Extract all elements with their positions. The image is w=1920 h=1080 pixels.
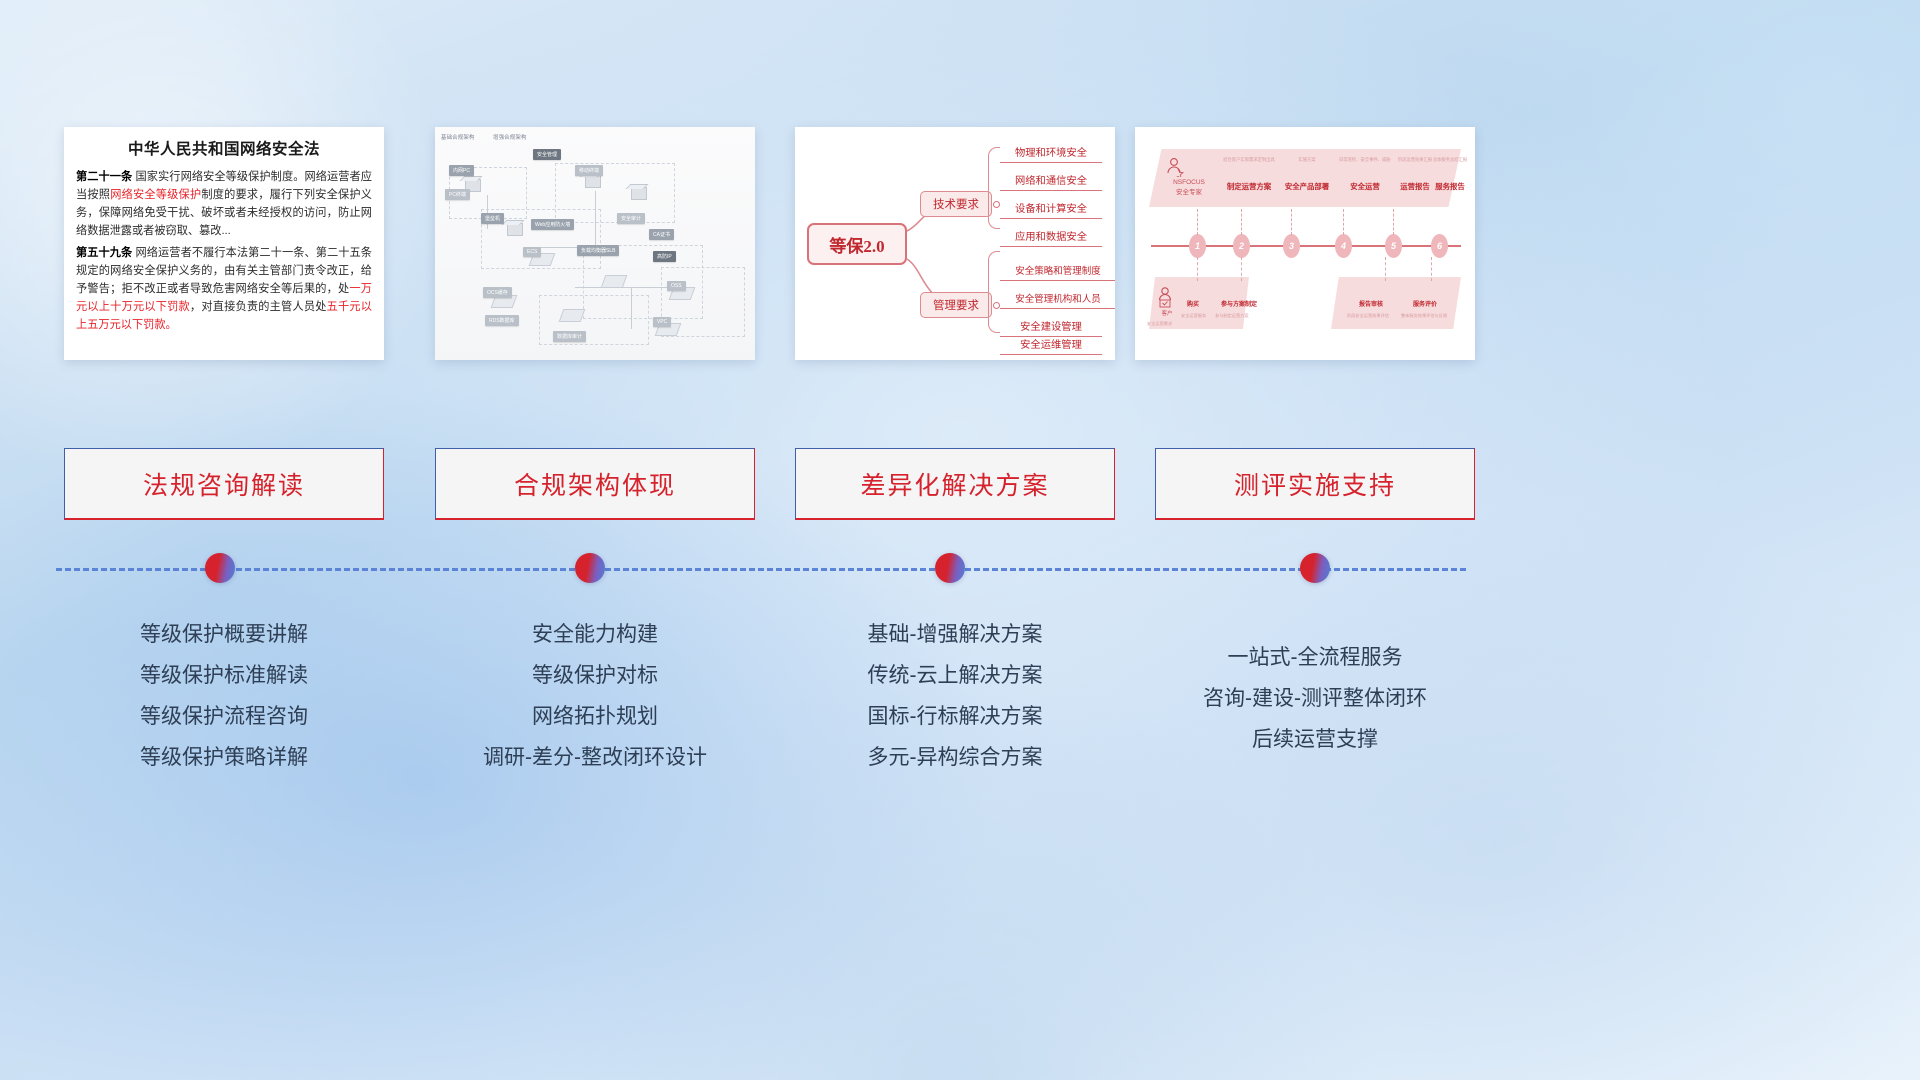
timeline-dash-4 (1343, 209, 1344, 235)
list-item: 安全能力构建 (435, 615, 755, 656)
step-3-title: 安全运营 (1339, 181, 1391, 192)
law-title: 中华人民共和国网络安全法 (76, 137, 372, 159)
list-item: 等级保护策略详解 (64, 738, 384, 779)
arch-chip-slb: 负载均衡器SLB (577, 245, 619, 256)
article-21-highlight: 网络安全等级保护 (110, 189, 201, 201)
nsfocus-timeline: NSFOCUS 安全专家 结合客户实际需求定制出具 制定运营方案 实施方案 安全… (1135, 127, 1475, 360)
timeline-dash-b3 (1385, 257, 1386, 281)
section-header-4-label: 测评实施支持 (1234, 466, 1396, 502)
timeline-marker-2[interactable] (575, 553, 605, 583)
timeline-dash-b2 (1241, 257, 1242, 281)
arch-tab-basic: 基础合规架构 (441, 133, 475, 141)
article-59-text-b: ，对直接负责的主管人员处 (190, 301, 327, 313)
timeline-marker-1[interactable] (205, 553, 235, 583)
arch-link-2 (595, 191, 596, 251)
article-21-number: 第二十一条 (76, 171, 132, 183)
customer-action-1-title: 购买 (1187, 299, 1199, 308)
arch-icon-bastion (507, 223, 523, 236)
law-article-59: 第五十九条 网络运营者不履行本法第二十一条、第二十五条规定的网络安全保护义务的，… (76, 244, 372, 335)
list-item: 等级保护标准解读 (64, 656, 384, 697)
arch-zone-terminal (555, 163, 675, 223)
mindmap: 等保2.0 技术要求 管理要求 物理和环境安全 网络和通信安全 设备和计算安全 … (795, 127, 1115, 360)
customer-role-subtitle: 安全运营需求 (1147, 321, 1172, 327)
customer-action-3-title: 报告审核 (1359, 299, 1383, 308)
mindmap-leaf-org-personnel: 安全管理机构和人员 (1000, 287, 1115, 309)
section-header-2-label: 合规架构体现 (514, 466, 676, 502)
timeline-dash-1 (1197, 209, 1198, 235)
customer-person-icon (1157, 287, 1175, 309)
section-4-items: 一站式-全流程服务 咨询-建设-测评整体闭环 后续运营支撑 (1155, 638, 1475, 761)
arch-chip-db-audit: 数据库审计 (553, 331, 586, 342)
arch-chip-ocs-cache: OCS缓存 (483, 287, 512, 298)
list-item: 等级保护流程咨询 (64, 697, 384, 738)
section-header-1-label: 法规咨询解读 (143, 466, 305, 502)
mindmap-bracket-management (988, 251, 1000, 333)
timeline-node-5[interactable]: 5 (1385, 234, 1402, 258)
customer-action-3-subtitle: 阶段安全运营效果评估 (1347, 313, 1389, 319)
step-2-subtitle: 实施方案 (1281, 157, 1333, 163)
law-document: 中华人民共和国网络安全法 第二十一条 国家实行网络安全等级保护制度。网络运营者应… (64, 127, 384, 345)
arch-icon-rds (559, 309, 586, 322)
arch-chip-security-mgmt: 安全管理 (533, 149, 561, 160)
timeline-node-4[interactable]: 4 (1335, 234, 1352, 258)
list-item: 调研-差分-整改闭环设计 (435, 738, 755, 779)
arch-chip-anti-ddos-ip: 高防IP (653, 251, 676, 262)
list-item: 等级保护对标 (435, 656, 755, 697)
step-5-title: 服务报告 (1427, 181, 1473, 192)
timeline-dash-5 (1393, 209, 1394, 235)
arch-chip-bastion: 堡垒机 (481, 213, 504, 224)
section-header-3-label: 差异化解决方案 (860, 466, 1049, 502)
section-header-differentiated-solution[interactable]: 差异化解决方案 (795, 448, 1115, 520)
arch-chip-internal-pc: 内网PC (449, 165, 474, 176)
list-item: 一站式-全流程服务 (1155, 638, 1475, 679)
customer-action-4-subtitle: 整体服务效果评估与反馈 (1401, 313, 1447, 319)
arch-chip-pc-terminal: PC终端 (445, 189, 470, 200)
arch-chip-vpc: VPC (653, 317, 671, 327)
list-item: 后续运营支撑 (1155, 720, 1475, 761)
step-2-title: 安全产品部署 (1281, 181, 1333, 192)
step-5-subtitle: 总体服务总结汇报 (1427, 157, 1473, 163)
arch-chip-ca-cert: CA证书 (649, 229, 674, 240)
step-1-subtitle: 结合客户实际需求定制出具 (1223, 157, 1275, 163)
mindmap-branch-technical: 技术要求 (920, 191, 992, 217)
law-article-21: 第二十一条 国家实行网络安全等级保护制度。网络运营者应当按照网络安全等级保护制度… (76, 168, 372, 241)
customer-action-2-subtitle: 参与制定运营方案 (1215, 313, 1249, 319)
arch-chip-mobile-terminal: 移动终端 (575, 165, 603, 176)
arch-link-5 (631, 287, 632, 329)
card-cybersecurity-law[interactable]: 中华人民共和国网络安全法 第二十一条 国家实行网络安全等级保护制度。网络运营者应… (64, 127, 384, 360)
list-item: 网络拓扑规划 (435, 697, 755, 738)
step-1-title: 制定运营方案 (1223, 181, 1275, 192)
mindmap-leaf-network-comm: 网络和通信安全 (1000, 169, 1102, 191)
expert-role-label: 安全专家 (1161, 189, 1217, 198)
card-mindmap-dengbao[interactable]: 等保2.0 技术要求 管理要求 物理和环境安全 网络和通信安全 设备和计算安全 … (795, 127, 1115, 360)
section-headers-row: 法规咨询解读 合规架构体现 差异化解决方案 测评实施支持 (0, 448, 1920, 520)
timeline-marker-4[interactable] (1300, 553, 1330, 583)
arch-chip-rds: RDS数据库 (485, 315, 519, 326)
nsfocus-bottom-band-right (1331, 277, 1461, 329)
customer-role-label: 客户 (1153, 311, 1181, 318)
timeline-dash-2 (1241, 209, 1242, 235)
list-item: 咨询-建设-测评整体闭环 (1155, 679, 1475, 720)
expert-person-icon (1165, 157, 1185, 177)
customer-action-1-subtitle: 安全运营服务 (1181, 313, 1206, 319)
timeline-dash-3 (1291, 209, 1292, 235)
article-59-number: 第五十九条 (76, 247, 132, 259)
timeline-node-3[interactable]: 3 (1283, 234, 1300, 258)
list-item: 等级保护概要讲解 (64, 615, 384, 656)
step-3-subtitle: 日常巡检、安全事件、威胁处置 (1339, 157, 1391, 163)
arch-chip-oss: OSS (667, 281, 686, 291)
card-nsfocus-service-flow[interactable]: NSFOCUS 安全专家 结合客户实际需求定制出具 制定运营方案 实施方案 安全… (1135, 127, 1475, 360)
customer-action-4-title: 服务评价 (1413, 299, 1437, 308)
timeline-node-2[interactable]: 2 (1233, 234, 1250, 258)
mindmap-leaf-device-compute: 设备和计算安全 (1000, 197, 1102, 219)
timeline-dash-b1 (1197, 257, 1198, 281)
arch-icon-pc-terminal (631, 187, 647, 200)
mindmap-leaf-app-data: 应用和数据安全 (1000, 225, 1102, 247)
list-item: 传统-云上解决方案 (795, 656, 1115, 697)
mindmap-leaf-operation-mgmt: 安全运维管理 (1000, 333, 1102, 355)
list-item: 基础-增强解决方案 (795, 615, 1115, 656)
mindmap-leaf-physical-env: 物理和环境安全 (1000, 141, 1102, 163)
mindmap-leaf-policy-system: 安全策略和管理制度 (1000, 259, 1115, 281)
timeline-node-6[interactable]: 6 (1431, 234, 1448, 258)
architecture-diagram: 基础合规架构 增强合规架构 安全管理 内网PC P (435, 127, 755, 360)
arch-chip-ecs: ECS (523, 247, 541, 257)
section-3-items: 基础-增强解决方案 传统-云上解决方案 国标-行标解决方案 多元-异构综合方案 (795, 615, 1115, 779)
list-item: 国标-行标解决方案 (795, 697, 1115, 738)
arch-link-4 (575, 287, 671, 288)
timeline-dashed-line (56, 568, 1466, 571)
timeline-dash-b4 (1431, 257, 1432, 281)
section-header-compliance-architecture[interactable]: 合规架构体现 (435, 448, 755, 520)
list-item: 多元-异构综合方案 (795, 738, 1115, 779)
mindmap-bracket-technical (988, 147, 1000, 229)
timeline-marker-3[interactable] (935, 553, 965, 583)
arch-tab-enhanced: 增强合规架构 (493, 133, 527, 141)
top-cards-row: 中华人民共和国网络安全法 第二十一条 国家实行网络安全等级保护制度。网络运营者应… (0, 127, 1920, 360)
timeline-node-1[interactable]: 1 (1189, 234, 1206, 258)
section-2-items: 安全能力构建 等级保护对标 网络拓扑规划 调研-差分-整改闭环设计 (435, 615, 755, 779)
expert-brand-label: NSFOCUS (1161, 179, 1217, 188)
section-header-regulation-consulting[interactable]: 法规咨询解读 (64, 448, 384, 520)
arch-chip-security-audit: 安全审计 (617, 213, 645, 224)
section-1-items: 等级保护概要讲解 等级保护标准解读 等级保护流程咨询 等级保护策略详解 (64, 615, 384, 779)
mindmap-branch-management: 管理要求 (920, 292, 992, 318)
arch-chip-waf: Web应用防火墙 (531, 219, 574, 230)
card-compliance-architecture[interactable]: 基础合规架构 增强合规架构 安全管理 内网PC P (435, 127, 755, 360)
arch-icon-mobile-device (585, 175, 601, 188)
customer-action-2-title: 参与方案制定 (1221, 299, 1257, 308)
section-header-evaluation-support[interactable]: 测评实施支持 (1155, 448, 1475, 520)
